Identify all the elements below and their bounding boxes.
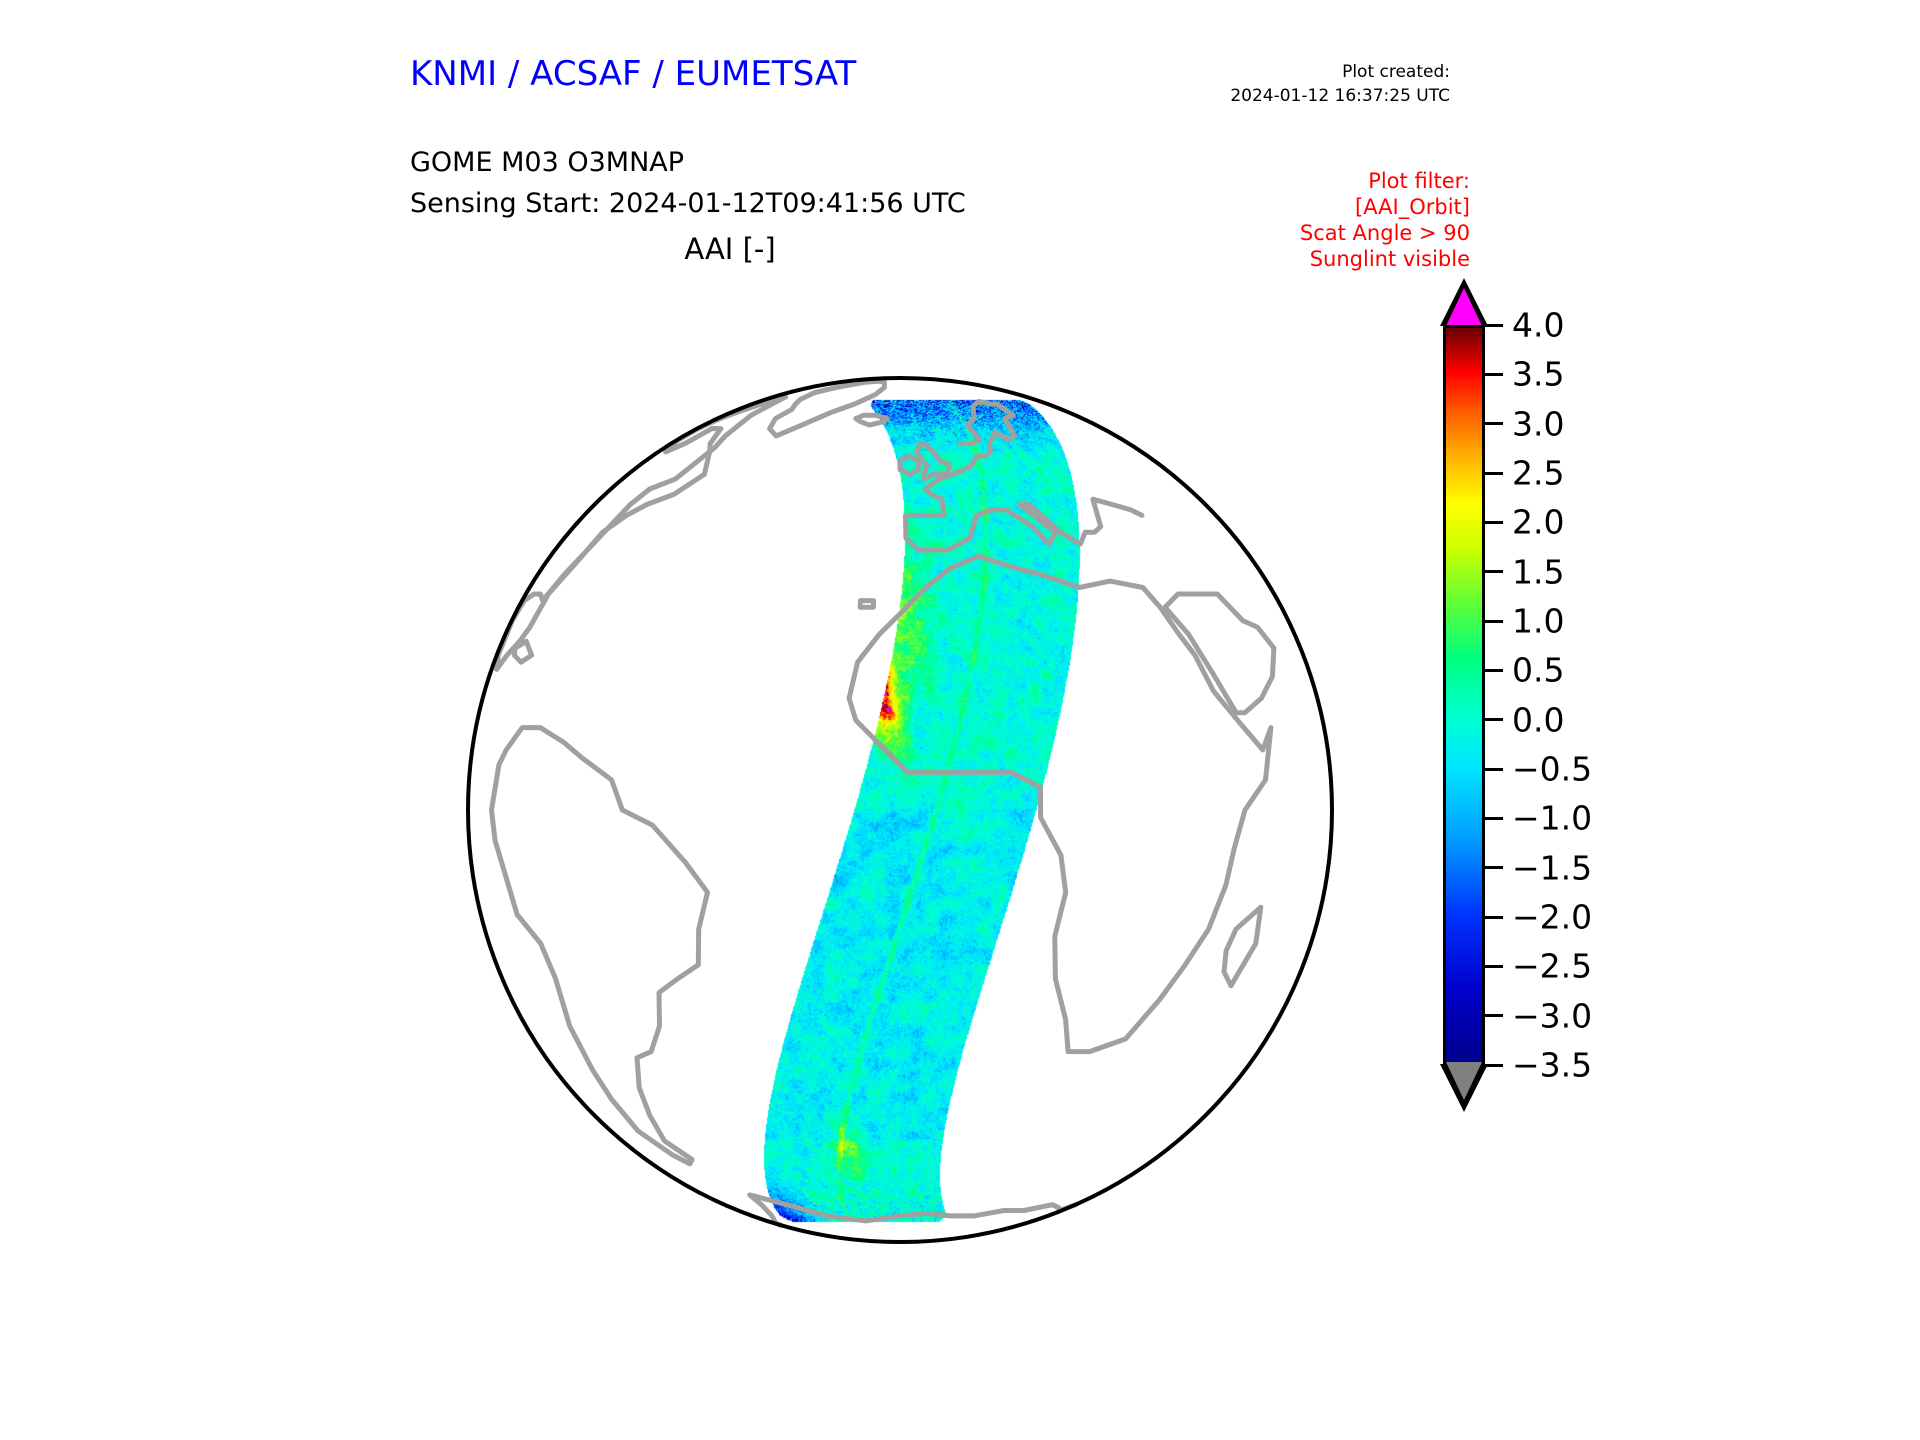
colorbar-tick bbox=[1485, 472, 1503, 475]
colorbar-tick-label: 2.0 bbox=[1512, 503, 1564, 542]
colorbar-tick bbox=[1485, 669, 1503, 672]
colorbar-tick bbox=[1485, 866, 1503, 869]
organization-title: KNMI / ACSAF / EUMETSAT bbox=[410, 54, 856, 94]
coastline-path bbox=[900, 456, 919, 474]
colorbar-tick-label: 0.0 bbox=[1512, 700, 1564, 739]
coastline-path bbox=[849, 556, 1271, 1052]
colorbar-tick-label: −0.5 bbox=[1512, 750, 1592, 789]
colorbar: 4.03.53.02.52.01.51.00.50.0−0.5−1.0−1.5−… bbox=[1430, 280, 1850, 1080]
coastline-path bbox=[492, 728, 708, 1164]
coastlines bbox=[492, 381, 1274, 1225]
plot-filter-name: [AAI_Orbit] bbox=[1300, 194, 1470, 220]
globe-map bbox=[330, 240, 1470, 1380]
colorbar-tick bbox=[1485, 768, 1503, 771]
colorbar-tick-label: 2.5 bbox=[1512, 454, 1564, 493]
colorbar-tick bbox=[1485, 422, 1503, 425]
coastline-path bbox=[1224, 907, 1261, 986]
colorbar-tick-label: −1.5 bbox=[1512, 848, 1592, 887]
colorbar-tick-label: 4.0 bbox=[1512, 306, 1564, 345]
colorbar-tick bbox=[1485, 817, 1503, 820]
colorbar-tick-label: 3.0 bbox=[1512, 404, 1564, 443]
colorbar-tick bbox=[1485, 324, 1503, 327]
coastline-path bbox=[860, 601, 874, 608]
colorbar-tick bbox=[1485, 1064, 1503, 1067]
colorbar-tick-label: 0.5 bbox=[1512, 651, 1564, 690]
colorbar-tick-label: −2.0 bbox=[1512, 898, 1592, 937]
colorbar-tick-label: −3.0 bbox=[1512, 996, 1592, 1035]
colorbar-tick bbox=[1485, 916, 1503, 919]
coastline-path bbox=[514, 641, 531, 662]
colorbar-tick bbox=[1485, 570, 1503, 573]
plot-created-label: Plot created: bbox=[1230, 60, 1450, 84]
product-name: GOME M03 O3MNAP bbox=[410, 142, 966, 183]
colorbar-tick bbox=[1485, 373, 1503, 376]
coastline-path bbox=[856, 415, 888, 425]
colorbar-tick bbox=[1485, 521, 1503, 524]
coastline-path bbox=[497, 397, 786, 670]
colorbar-tick-label: 1.5 bbox=[1512, 552, 1564, 591]
colorbar-tick bbox=[1485, 718, 1503, 721]
colorbar-tick bbox=[1485, 965, 1503, 968]
coastline-path bbox=[917, 444, 950, 480]
colorbar-tick-label: −2.5 bbox=[1512, 947, 1592, 986]
globe-vector-layer bbox=[330, 240, 1470, 1380]
product-info-block: GOME M03 O3MNAP Sensing Start: 2024-01-1… bbox=[410, 142, 966, 224]
colorbar-tick-label: −3.5 bbox=[1512, 1046, 1592, 1085]
plot-filter-label: Plot filter: bbox=[1300, 168, 1470, 194]
plot-created-block: Plot created: 2024-01-12 16:37:25 UTC bbox=[1230, 60, 1450, 108]
colorbar-tick bbox=[1485, 620, 1503, 623]
plot-created-timestamp: 2024-01-12 16:37:25 UTC bbox=[1230, 84, 1450, 108]
sensing-start: Sensing Start: 2024-01-12T09:41:56 UTC bbox=[410, 183, 966, 224]
colorbar-tick bbox=[1485, 1014, 1503, 1017]
colorbar-tick-label: 1.0 bbox=[1512, 602, 1564, 641]
plot-page: KNMI / ACSAF / EUMETSAT Plot created: 20… bbox=[0, 0, 1920, 1440]
colorbar-tick-label: −1.0 bbox=[1512, 799, 1592, 838]
coastline-path bbox=[770, 381, 885, 436]
colorbar-tick-label: 3.5 bbox=[1512, 355, 1564, 394]
globe-outline-circle bbox=[468, 378, 1332, 1242]
coastline-path bbox=[750, 1195, 1076, 1225]
